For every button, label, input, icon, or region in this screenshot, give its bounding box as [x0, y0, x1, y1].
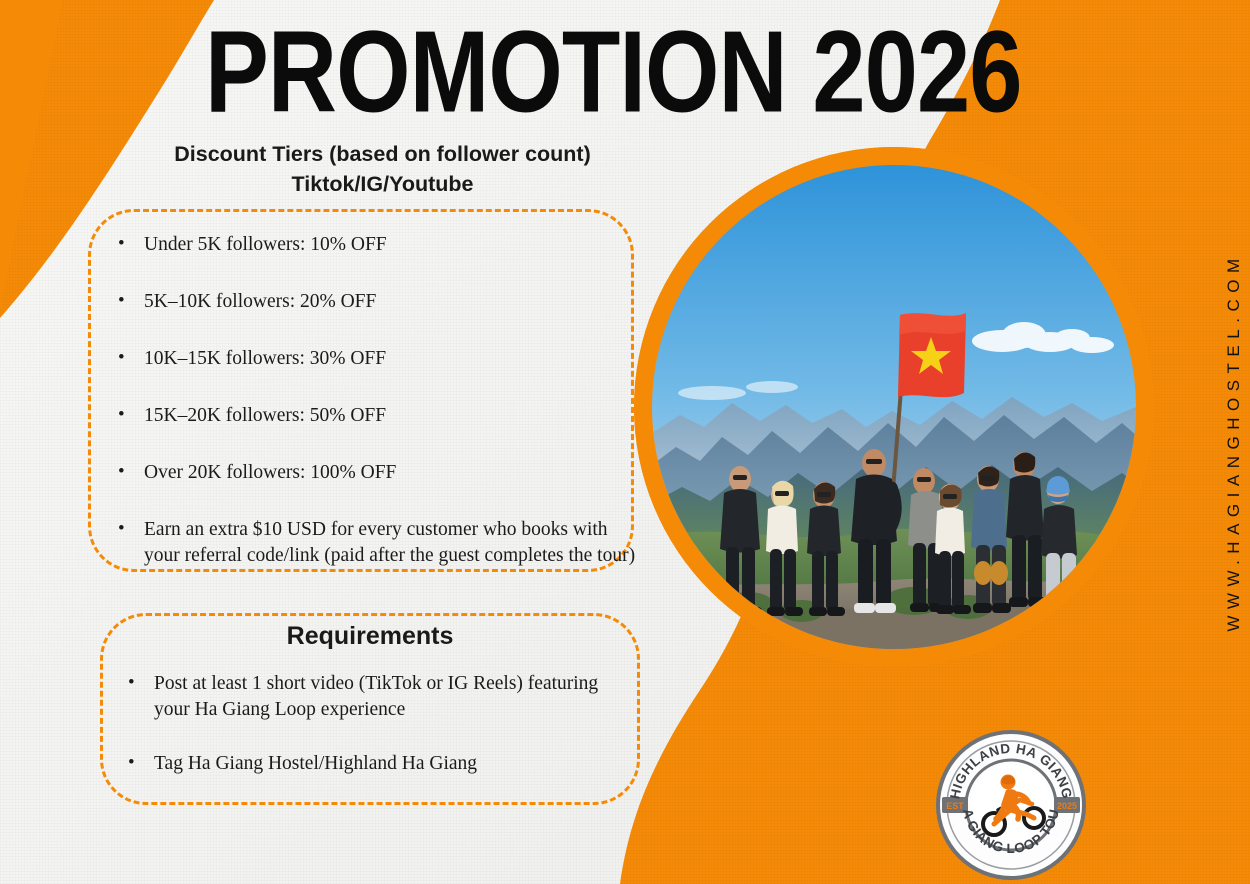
list-item: Under 5K followers: 10% OFF — [110, 232, 640, 258]
list-item: 5K–10K followers: 20% OFF — [110, 289, 640, 315]
poster-canvas: PROMOTION 2026 Discount Tiers (based on … — [0, 0, 1250, 884]
list-item: 10K–15K followers: 30% OFF — [110, 346, 640, 372]
subtitle-line-2: Tiktok/IG/Youtube — [90, 170, 675, 200]
page-title: PROMOTION 2026 — [205, 14, 1022, 130]
list-item: 15K–20K followers: 50% OFF — [110, 403, 640, 429]
discount-tiers-list: Under 5K followers: 10% OFF 5K–10K follo… — [110, 232, 640, 568]
list-item: Over 20K followers: 100% OFF — [110, 460, 640, 486]
subtitle-line-1: Discount Tiers (based on follower count) — [90, 140, 675, 170]
photo-circle — [634, 147, 1154, 667]
list-item: Post at least 1 short video (TikTok or I… — [120, 671, 636, 723]
requirements-heading: Requirements — [100, 622, 640, 651]
group-photo — [652, 165, 1136, 649]
website-url: WWW.HAGIANGHOSTEL.COM — [1224, 252, 1244, 631]
logo-est-label: EST — [946, 801, 964, 811]
list-item: Earn an extra $10 USD for every customer… — [110, 517, 640, 569]
list-item: Tag Ha Giang Hostel/Highland Ha Giang — [120, 751, 636, 777]
requirements-list: Post at least 1 short video (TikTok or I… — [120, 671, 636, 777]
brand-logo: EST 2025 HIGHLAND HA GIANG HA GIANG LOOP… — [936, 730, 1086, 880]
subtitle-block: Discount Tiers (based on follower count)… — [90, 140, 675, 199]
svg-text:2025: 2025 — [1057, 801, 1077, 811]
